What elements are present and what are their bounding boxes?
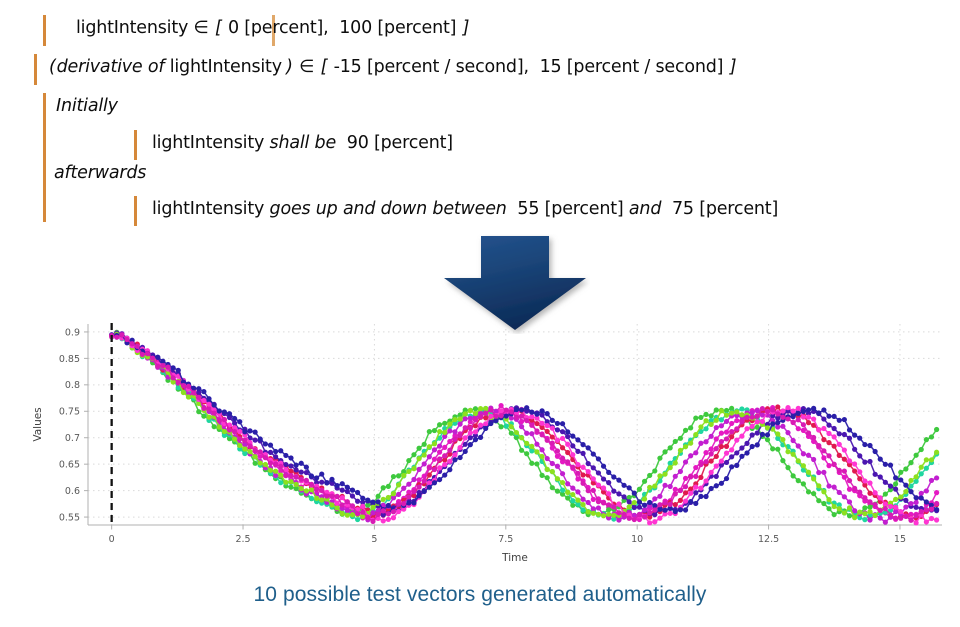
spec-close-paren: ) bbox=[282, 57, 294, 77]
ytick-label: 0.9 bbox=[65, 327, 80, 338]
spec-deriv-max: 15 [percent / second] bbox=[529, 57, 729, 77]
spec-max-value: 100 [percent] bbox=[329, 18, 462, 38]
ytick-label: 0.65 bbox=[59, 460, 80, 471]
chart-caption: 10 possible test vectors generated autom… bbox=[0, 583, 960, 607]
ytick-label: 0.6 bbox=[65, 486, 80, 497]
nesting-rule-line2 bbox=[34, 54, 37, 85]
spec-line-range: lightIntensity ∈ [ 0 [percent], 100 [per… bbox=[76, 18, 470, 38]
spec-keyword-derivative-of: derivative of bbox=[57, 57, 165, 77]
xtick-label: 5 bbox=[371, 534, 377, 545]
spec-keyword-goes-up-down: goes up and down between bbox=[270, 199, 507, 219]
spec-close-bracket: ] bbox=[462, 18, 471, 38]
requirement-spec-block: lightIntensity ∈ [ 0 [percent], 100 [per… bbox=[0, 8, 960, 230]
xtick-label: 0 bbox=[109, 534, 115, 545]
spec-open-bracket: [ bbox=[214, 18, 223, 38]
spec-deriv-min: -15 [percent / second] bbox=[328, 57, 523, 77]
chart-yaxis-title: Values bbox=[32, 407, 44, 441]
spec-keyword-afterwards: afterwards bbox=[54, 163, 146, 183]
chart-xaxis-title: Time bbox=[501, 552, 528, 564]
ytick-label: 0.8 bbox=[65, 380, 80, 391]
spec-line-initially: Initially bbox=[56, 96, 118, 116]
spec-keyword-shall-be: shall be bbox=[270, 133, 337, 153]
ytick-label: 0.7 bbox=[65, 433, 80, 444]
spec-var-name: lightIntensity bbox=[152, 133, 270, 153]
nesting-rule-afterwards-body bbox=[134, 196, 137, 226]
spec-line-derivative: (derivative of lightIntensity ) ∈ [ -15 … bbox=[48, 57, 737, 77]
ytick-label: 0.75 bbox=[59, 407, 80, 418]
test-vector-chart: 0.550.60.650.70.750.80.850.902.557.51012… bbox=[0, 310, 960, 575]
spec-var-name: lightIntensity bbox=[152, 199, 270, 219]
spec-var-name: lightIntensity bbox=[76, 18, 188, 38]
ytick-label: 0.85 bbox=[59, 354, 80, 365]
nesting-rule-block bbox=[43, 93, 46, 222]
xtick-label: 12.5 bbox=[758, 534, 779, 545]
spec-line-afterwards: afterwards bbox=[54, 163, 146, 183]
chart-series-group bbox=[109, 330, 939, 526]
spec-open-bracket: [ bbox=[320, 57, 329, 77]
spec-open-paren: ( bbox=[48, 57, 57, 77]
spec-osc-high: 75 [percent] bbox=[661, 199, 778, 219]
nesting-rule-initially-body bbox=[134, 130, 137, 160]
xtick-label: 15 bbox=[894, 534, 906, 545]
chart-svg: 0.550.60.650.70.750.80.850.902.557.51012… bbox=[0, 310, 960, 575]
spec-line-oscillation: lightIntensity goes up and down between … bbox=[152, 199, 778, 219]
nesting-rule-line1 bbox=[43, 15, 46, 46]
spec-var-name: lightIntensity bbox=[164, 57, 282, 77]
spec-keyword-initially: Initially bbox=[56, 96, 118, 116]
spec-close-bracket: ] bbox=[729, 57, 738, 77]
spec-member-op: ∈ bbox=[294, 57, 320, 77]
spec-keyword-and: and bbox=[629, 199, 661, 219]
xtick-label: 7.5 bbox=[498, 534, 513, 545]
spec-min-value: 0 [percent] bbox=[223, 18, 324, 38]
spec-initial-value: 90 [percent] bbox=[336, 133, 453, 153]
ytick-label: 0.55 bbox=[59, 512, 80, 523]
spec-line-initial-value: lightIntensity shall be 90 [percent] bbox=[152, 133, 453, 153]
spec-osc-low: 55 [percent] bbox=[507, 199, 629, 219]
xtick-label: 10 bbox=[631, 534, 643, 545]
xtick-label: 2.5 bbox=[235, 534, 250, 545]
spec-member-op: ∈ bbox=[194, 18, 214, 38]
